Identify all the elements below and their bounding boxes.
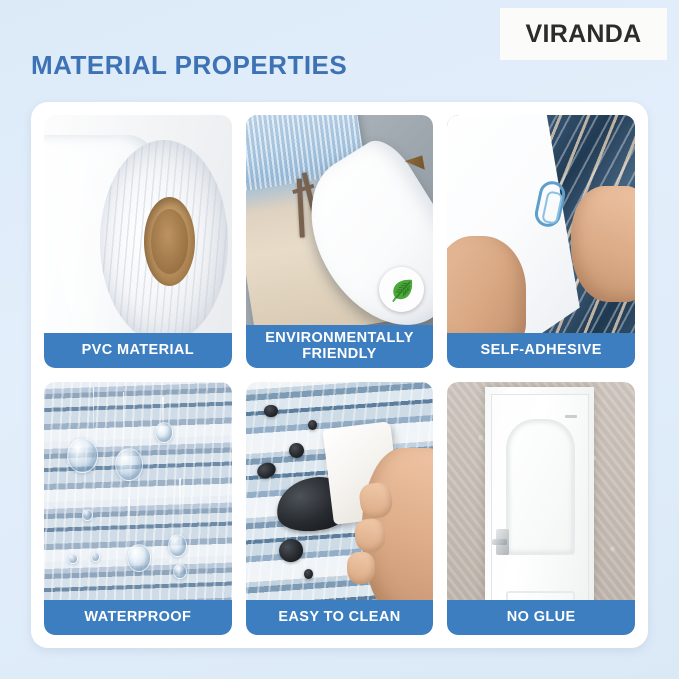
pvc-roll-image — [44, 115, 232, 368]
caption-line-2: FRIENDLY — [250, 346, 430, 362]
card-caption-waterproof: WATERPROOF — [44, 600, 232, 635]
page-title: MATERIAL PROPERTIES — [31, 50, 347, 81]
feature-card-easy-to-clean[interactable]: EASY TO CLEAN — [246, 382, 434, 635]
feature-card-self-adhesive[interactable]: SELF-ADHESIVE — [447, 115, 635, 368]
feature-card-grid: PVC MATERIAL — [44, 115, 635, 635]
brand-logo-text: VIRANDA — [526, 20, 642, 49]
feature-card-environmentally-friendly[interactable]: ENVIRONMENTALLY FRIENDLY — [246, 115, 434, 368]
brand-logo: VIRANDA — [500, 8, 667, 60]
card-caption-self-adhesive: SELF-ADHESIVE — [447, 333, 635, 368]
no-glue-image — [447, 382, 635, 635]
self-adhesive-image — [447, 115, 635, 368]
card-caption-pvc-material: PVC MATERIAL — [44, 333, 232, 368]
easy-to-clean-image — [246, 382, 434, 635]
feature-card-waterproof[interactable]: WATERPROOF — [44, 382, 232, 635]
feature-card-pvc-material[interactable]: PVC MATERIAL — [44, 115, 232, 368]
feature-card-no-glue[interactable]: NO GLUE — [447, 382, 635, 635]
waterproof-image — [44, 382, 232, 635]
feature-panel: PVC MATERIAL — [31, 102, 648, 648]
card-caption-easy-to-clean: EASY TO CLEAN — [246, 600, 434, 635]
card-caption-no-glue: NO GLUE — [447, 600, 635, 635]
caption-line-1: ENVIRONMENTALLY — [250, 330, 430, 346]
card-caption-environmentally-friendly: ENVIRONMENTALLY FRIENDLY — [246, 325, 434, 368]
